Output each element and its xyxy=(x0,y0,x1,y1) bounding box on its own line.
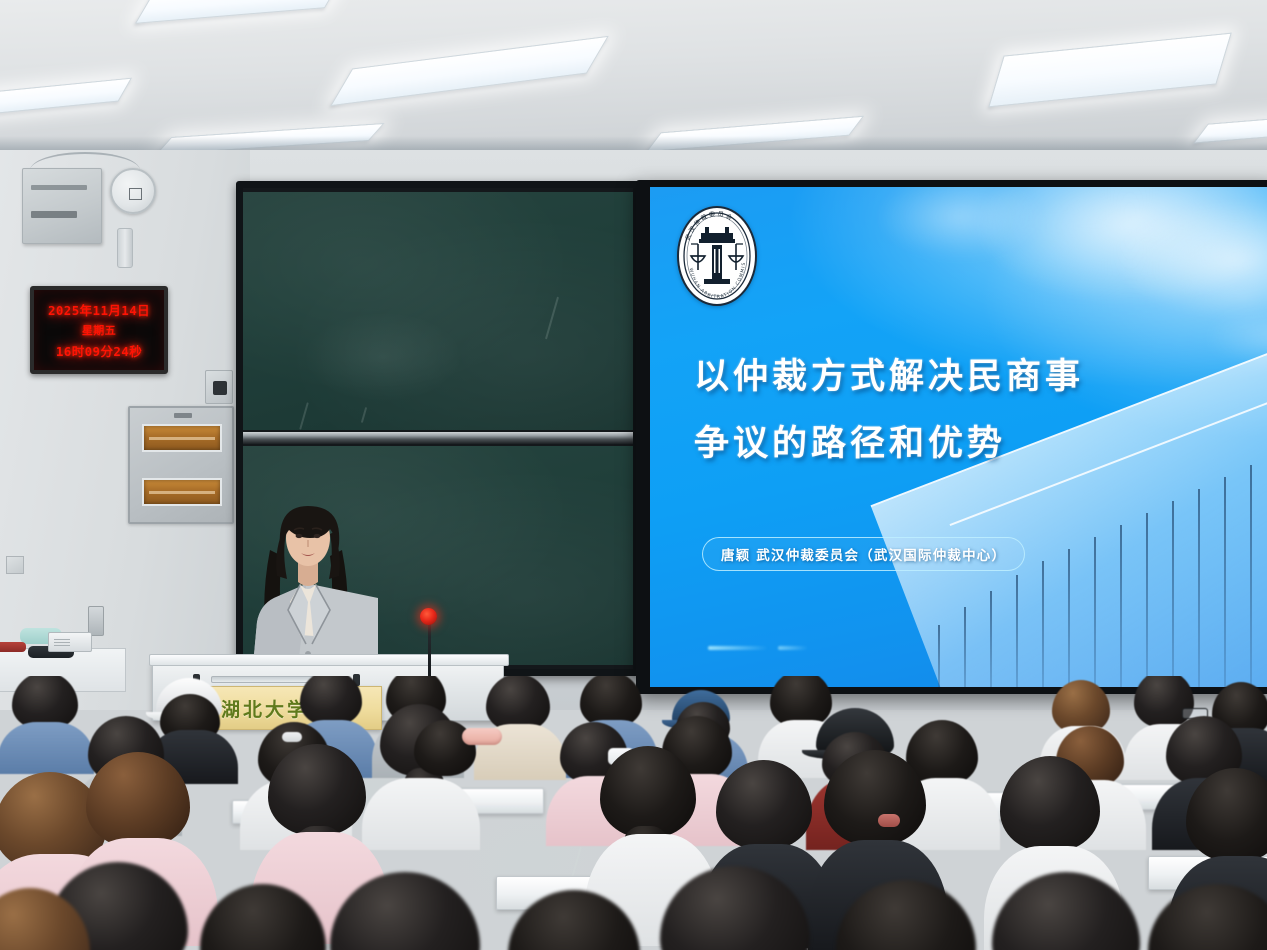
bridge-cable xyxy=(964,607,966,687)
audience-area xyxy=(0,676,1267,950)
bridge-cable xyxy=(1120,525,1122,687)
audience-shoulders xyxy=(0,722,94,774)
bridge-cable xyxy=(1172,501,1174,687)
bridge-cable xyxy=(990,591,992,687)
led-clock-date: 2025年11月14日 xyxy=(48,300,150,319)
presentation-slide: 武汉仲裁委员会 WUHAN ARBITRATION COMMISSION 以仲裁… xyxy=(650,187,1267,687)
led-clock-weekday: 星期五 xyxy=(82,322,116,338)
lectern-top-surface xyxy=(149,654,509,666)
ceiling xyxy=(0,0,1267,152)
led-clock-display: 2025年11月14日 星期五 16时09分24秒 xyxy=(30,286,168,374)
slide-title: 以仲裁方式解决民商事 争议的路径和优势 xyxy=(694,359,1124,463)
chalk-streak xyxy=(545,297,559,340)
arbitration-commission-emblem-icon: 武汉仲裁委员会 WUHAN ARBITRATION COMMISSION xyxy=(674,203,760,309)
bridge-cable xyxy=(1250,465,1252,687)
louver-vent xyxy=(142,478,222,506)
bridge-cable xyxy=(1198,489,1200,687)
bridge-cable xyxy=(1094,537,1096,687)
wall-vent xyxy=(6,556,24,574)
projection-screen-frame: 武汉仲裁委员会 WUHAN ARBITRATION COMMISSION 以仲裁… xyxy=(636,180,1267,694)
pink-hair-bow xyxy=(462,728,502,745)
bridge-cable xyxy=(1068,549,1070,687)
audience-shoulders xyxy=(362,778,480,850)
wall-notice-board xyxy=(22,168,102,244)
bag-item xyxy=(0,642,26,652)
ceiling-light xyxy=(646,116,864,152)
slide-title-line-2: 争议的路径和优势 xyxy=(694,426,1124,463)
slide-subtitle-pill: 唐颖 武汉仲裁委员会（武汉国际仲裁中心） xyxy=(702,537,1025,571)
led-clock-time: 16时09分24秒 xyxy=(56,341,142,360)
notice-text-line xyxy=(31,211,77,218)
round-wall-clock xyxy=(110,168,156,214)
slide-decoration-line xyxy=(708,646,768,650)
hair-tie xyxy=(282,732,302,742)
blackboard-panel-upper xyxy=(243,192,633,430)
lecture-hall-scene: 2025年11月14日 星期五 16时09分24秒 xyxy=(0,0,1267,950)
audience-head xyxy=(300,676,362,726)
audience-head xyxy=(1148,884,1267,950)
bridge-cable xyxy=(1146,513,1148,687)
notice-text-line xyxy=(31,185,87,190)
wall-fixture-stem xyxy=(117,228,133,268)
slide-title-line-1: 以仲裁方式解决民商事 xyxy=(694,359,1124,396)
bridge-cable xyxy=(1016,575,1018,687)
ceiling-light xyxy=(135,0,341,24)
ceiling-light xyxy=(330,36,609,106)
audio-equipment xyxy=(48,632,92,652)
hair-scrunchie xyxy=(878,814,900,827)
bridge-cable xyxy=(1224,477,1226,687)
slide-decoration-line xyxy=(778,646,808,650)
chalk-streak xyxy=(361,407,367,423)
chalk-smudge xyxy=(303,312,463,402)
louver-latch xyxy=(174,413,192,418)
ceiling-light xyxy=(0,78,132,119)
ceiling-light xyxy=(1193,112,1267,143)
wall-louver-panel xyxy=(128,406,234,524)
chalk-streak xyxy=(299,402,309,429)
wall-light-switch[interactable] xyxy=(205,370,233,404)
microphone-stem xyxy=(428,618,431,680)
louver-vent xyxy=(142,424,222,452)
bridge-cable xyxy=(1042,561,1044,687)
ceiling-light xyxy=(988,33,1232,108)
blackboard-slide-rail xyxy=(243,432,633,444)
microphone-indicator-icon xyxy=(420,608,437,625)
